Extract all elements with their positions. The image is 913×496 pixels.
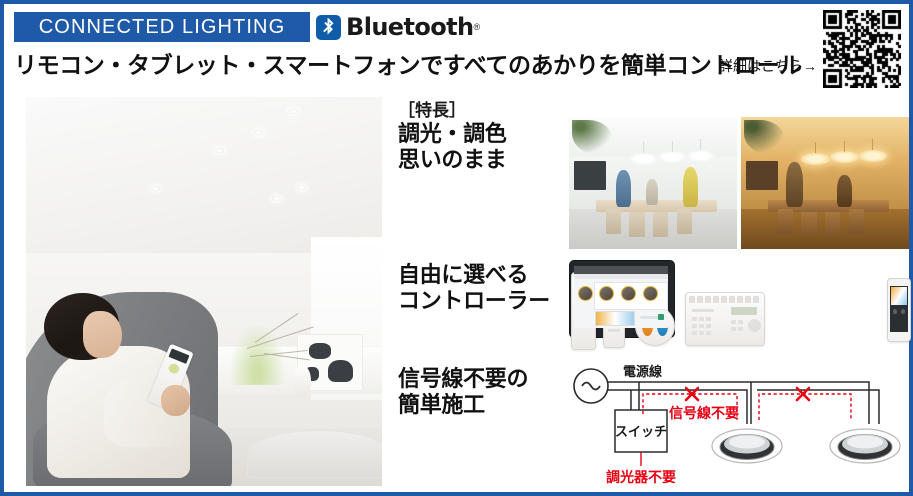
- bluetooth-icon: [316, 15, 341, 40]
- hero-glass-table: [247, 430, 382, 479]
- bluetooth-logo: Bluetooth ®: [316, 12, 480, 42]
- room-scene-thumb[interactable]: [578, 286, 593, 301]
- pendant-light: [859, 150, 888, 162]
- pendant-light: [687, 150, 716, 162]
- room-tv: [746, 161, 778, 190]
- downlight-fixture: [830, 429, 900, 463]
- header: CONNECTED LIGHTING Bluetooth ® リモコン・タブレッ…: [4, 4, 909, 88]
- room-chair: [606, 209, 621, 234]
- remote-button: [166, 362, 180, 375]
- no-dimmer-label: 調光器不要: [606, 469, 676, 485]
- hero-person-face: [83, 311, 122, 358]
- room-chair: [653, 212, 668, 237]
- room-scene-thumb[interactable]: [599, 286, 614, 301]
- feature-heading-controllers: 自由に選べる コントローラー: [398, 262, 550, 314]
- connected-lighting-banner: CONNECTED LIGHTING: [14, 12, 310, 42]
- color-temperature-bar[interactable]: [595, 311, 635, 326]
- ceiling-downlight: [272, 196, 281, 201]
- bluetooth-wordmark: Bluetooth: [346, 13, 474, 41]
- ac-source-symbol: [574, 369, 608, 403]
- room-chair: [778, 209, 793, 234]
- bulb-icon: [893, 309, 897, 314]
- downlight-fixture: [712, 429, 782, 463]
- room-scene-thumb[interactable]: [643, 286, 658, 301]
- controller-smartphone[interactable]: [887, 278, 911, 342]
- ceiling-downlight: [297, 185, 306, 190]
- room-chair: [849, 209, 864, 234]
- ceiling-downlight: [289, 109, 298, 114]
- app-title-bar: [574, 266, 668, 274]
- room-person: [786, 162, 803, 207]
- controller-tablet[interactable]: [569, 260, 675, 338]
- room-chair: [801, 212, 816, 237]
- controller-lineup: [569, 260, 909, 352]
- switch-box: スイッチ: [615, 410, 667, 452]
- room-chair: [825, 212, 840, 237]
- room-photo-cool-white: [569, 117, 737, 249]
- pendant-light: [830, 151, 859, 163]
- bulb-icon: [901, 309, 905, 314]
- smartphone-screen: [890, 286, 908, 332]
- pendant-light: [629, 153, 658, 165]
- room-photo-pair: [569, 117, 909, 249]
- pendant-light: [658, 151, 687, 163]
- qr-code-image: [823, 10, 901, 88]
- hero-vase: [293, 365, 311, 396]
- no-signal-line-label: 信号線不要: [669, 405, 739, 421]
- room-person: [616, 170, 631, 207]
- controller-wall-panel[interactable]: [685, 292, 765, 346]
- hero-branch: [247, 315, 325, 369]
- tablet-screen: [574, 266, 668, 328]
- wiring-diagram: スイッチ: [569, 362, 909, 488]
- room-scene-thumb[interactable]: [621, 286, 636, 301]
- header-subtitle: リモコン・タブレット・スマートフォンですべてのあかりを簡単コントロール: [14, 46, 802, 80]
- app-sub-bar: [574, 274, 668, 279]
- switch-label: スイッチ: [615, 424, 667, 439]
- room-person: [683, 167, 698, 207]
- room-photo-warm-amber: [741, 117, 909, 249]
- remote-display: [168, 348, 189, 364]
- room-chair: [677, 209, 692, 234]
- brightness-slider[interactable]: [640, 316, 664, 319]
- room-person: [646, 179, 658, 205]
- hero-photo: [26, 97, 382, 486]
- color-temperature-picker[interactable]: [891, 287, 907, 305]
- pendant-light: [801, 153, 830, 165]
- ceiling-downlight: [215, 148, 224, 153]
- ceiling-downlight: [254, 130, 263, 135]
- room-person: [837, 175, 852, 207]
- qr-caption: 詳細はこちら→: [719, 56, 817, 76]
- power-line-label: 電源線: [623, 364, 663, 379]
- feature-heading-wiring: 信号線不要の 簡単施工: [398, 366, 528, 418]
- registered-trademark-mark: ®: [474, 22, 481, 32]
- hero-person-hand: [161, 385, 189, 416]
- banner-title: CONNECTED LIGHTING: [39, 16, 285, 39]
- room-tv: [574, 161, 606, 190]
- room-chair: [629, 212, 644, 237]
- feature-heading-dimming: 調光・調色 思いのまま: [398, 121, 507, 173]
- qr-code[interactable]: [823, 10, 901, 88]
- features-section-label: ［特長］: [398, 96, 466, 121]
- advertisement-page: CONNECTED LIGHTING Bluetooth ® リモコン・タブレッ…: [0, 0, 913, 496]
